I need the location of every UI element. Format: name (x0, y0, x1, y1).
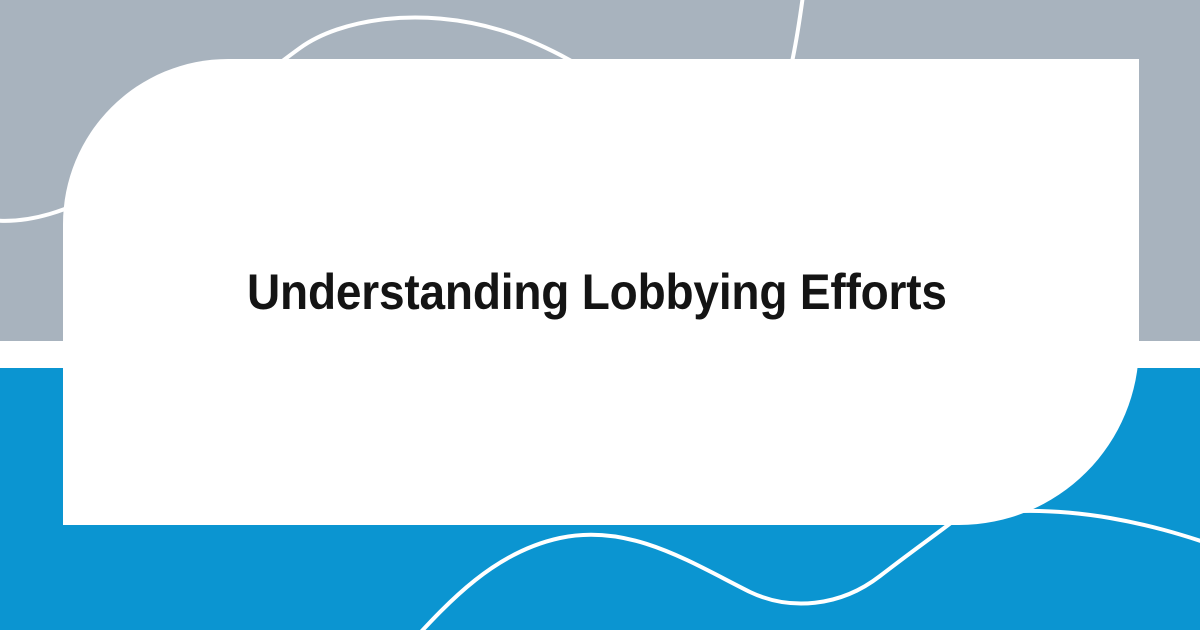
social-share-banner: Understanding Lobbying Efforts (0, 0, 1200, 630)
content-card: Understanding Lobbying Efforts (63, 59, 1139, 525)
card-body: Understanding Lobbying Efforts (247, 59, 1099, 525)
page-title: Understanding Lobbying Efforts (247, 266, 947, 319)
